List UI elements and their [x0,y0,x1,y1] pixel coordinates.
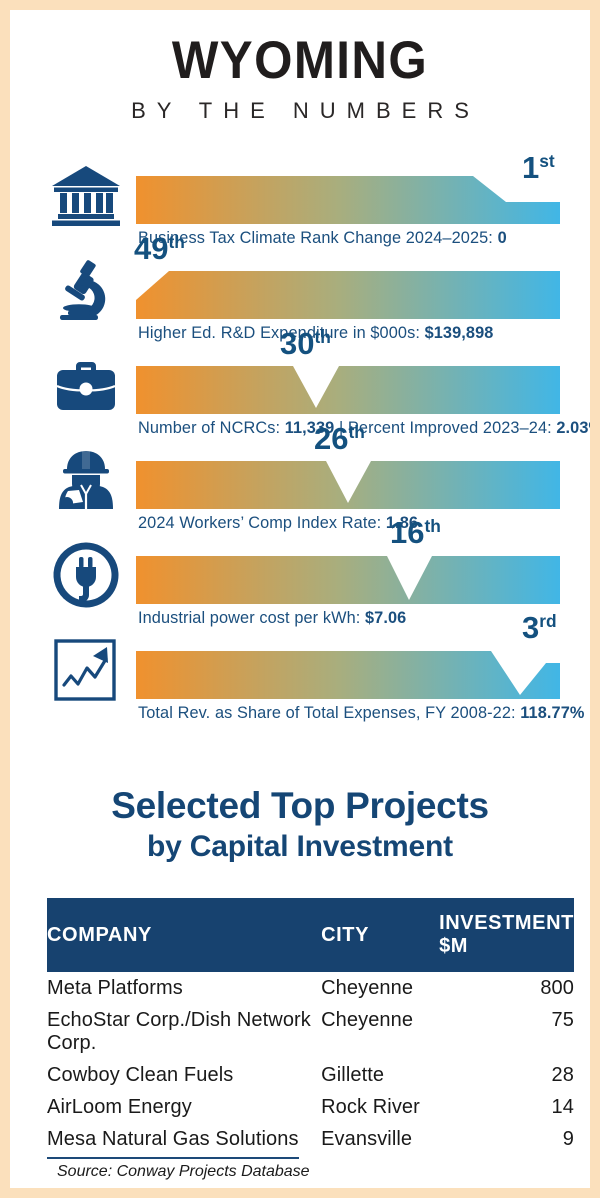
cell-city: Cheyenne [321,972,439,1004]
rank-bar [136,651,560,699]
stat-row: 49th Higher Ed. R&D Expenditure in $000s… [10,243,590,338]
stat-row: 3rd Total Rev. as Share of Total Expense… [10,623,590,718]
cell-city: Evansville [321,1123,439,1155]
cell-company: Mesa Natural Gas Solutions [47,1123,321,1155]
projects-table: COMPANY CITY INVESTMENT $M Meta Platform… [47,898,574,1155]
briefcase-icon [48,352,124,418]
source-divider [47,1157,299,1159]
table-row: AirLoom Energy Rock River 14 [47,1091,574,1123]
cell-company: Cowboy Clean Fuels [47,1059,321,1091]
table-row: Meta Platforms Cheyenne 800 [47,972,574,1004]
stat-label: Total Rev. as Share of Total Expenses, F… [138,703,584,723]
table-row: Cowboy Clean Fuels Gillette 28 [47,1059,574,1091]
cell-investment: 800 [439,972,574,1004]
cell-investment: 28 [439,1059,574,1091]
projects-title: Selected Top Projects [10,785,590,826]
rank-bar [136,176,560,224]
poster-inner: WYOMING BY THE NUMBERS [10,10,590,1188]
rank-bar [136,271,560,319]
rank-label: 1st [522,152,555,183]
bank-building-icon [48,162,124,228]
cell-city: Gillette [321,1059,439,1091]
construction-worker-icon [48,447,124,513]
table-row: Mesa Natural Gas Solutions Evansville 9 [47,1123,574,1155]
source-note: Source: Conway Projects Database [47,1163,574,1181]
cell-city: Rock River [321,1091,439,1123]
projects-table-block: COMPANY CITY INVESTMENT $M Meta Platform… [47,898,574,1181]
column-header-company: COMPANY [47,898,321,972]
rank-label: 3rd [522,612,557,643]
stat-row: 30th Number of NCRCs: 11,339 | Percent I… [10,338,590,433]
page-title: WYOMING [30,34,569,87]
page-subtitle: BY THE NUMBERS [10,100,590,122]
cell-investment: 75 [439,1004,574,1059]
infographic-poster: WYOMING BY THE NUMBERS [0,0,600,1198]
cell-investment: 9 [439,1123,574,1155]
growth-chart-icon [48,637,124,703]
rank-bar [136,366,560,414]
column-header-investment: INVESTMENT $M [439,898,574,972]
cell-investment: 14 [439,1091,574,1123]
stat-row: 26th 2024 Workers’ Comp Index Rate: 1.86 [10,433,590,528]
rank-bar [136,461,560,509]
poster-header: WYOMING BY THE NUMBERS [10,34,590,122]
stat-row: 1st Business Tax Climate Rank Change 202… [10,148,590,243]
cell-city: Cheyenne [321,1004,439,1059]
table-row: EchoStar Corp./Dish Network Corp. Cheyen… [47,1004,574,1059]
table-header-row: COMPANY CITY INVESTMENT $M [47,898,574,972]
projects-subtitle: by Capital Investment [10,830,590,865]
power-plug-icon [48,542,124,608]
cell-company: Meta Platforms [47,972,321,1004]
rank-bar [136,556,560,604]
microscope-icon [48,257,124,323]
cell-company: EchoStar Corp./Dish Network Corp. [47,1004,321,1059]
rank-label: 16th [390,517,441,548]
rank-label: 26th [314,423,365,454]
projects-section: Selected Top Projects by Capital Investm… [10,785,590,865]
rank-label: 49th [134,233,185,264]
cell-company: AirLoom Energy [47,1091,321,1123]
stat-row: 16th Industrial power cost per kWh: $7.0… [10,528,590,623]
rank-label: 30th [280,328,331,359]
column-header-city: CITY [321,898,439,972]
stats-list: 1st Business Tax Climate Rank Change 202… [10,148,590,718]
